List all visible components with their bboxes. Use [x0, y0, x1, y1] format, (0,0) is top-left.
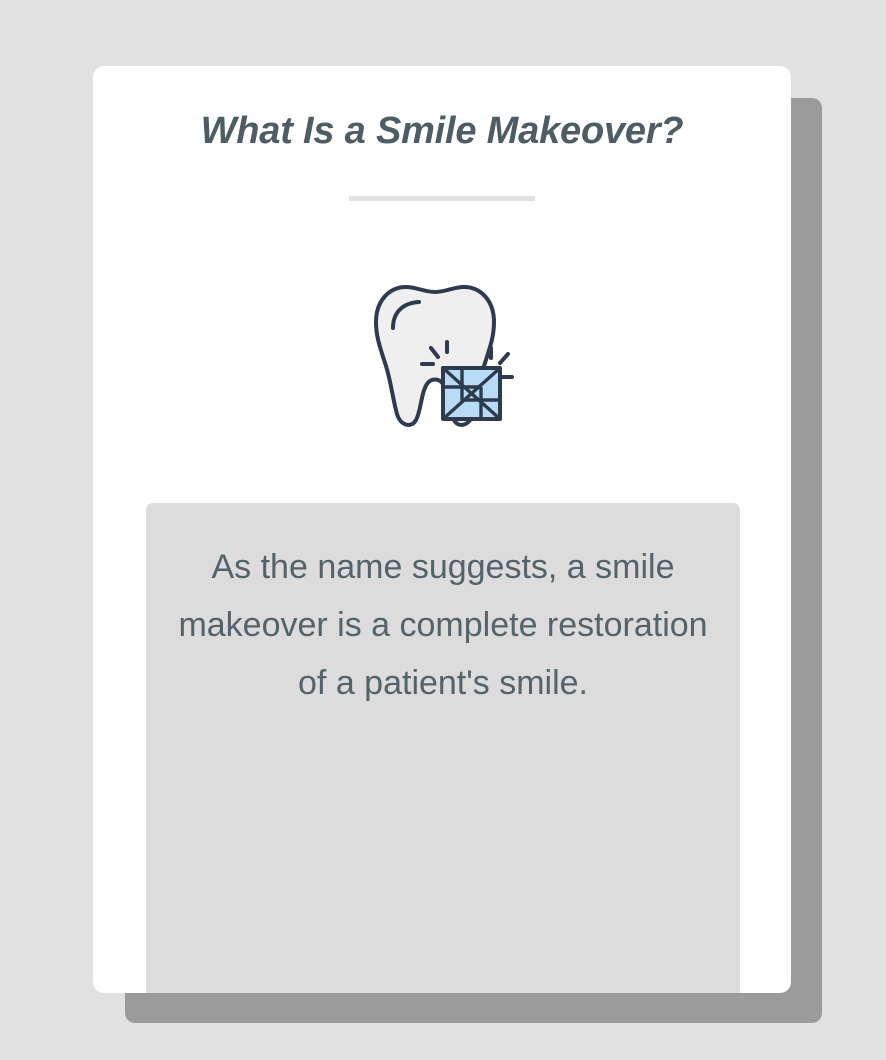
tooth-with-diamond-icon [93, 272, 791, 442]
slide-canvas: What Is a Smile Makeover? [0, 0, 886, 1060]
body-panel: As the name suggests, a smile makeover i… [146, 503, 740, 993]
tooth-with-diamond-glyph [369, 280, 515, 435]
title-divider [349, 196, 535, 201]
content-card: What Is a Smile Makeover? [93, 66, 791, 993]
body-text: As the name suggests, a smile makeover i… [172, 538, 714, 712]
page-title: What Is a Smile Makeover? [93, 110, 791, 153]
